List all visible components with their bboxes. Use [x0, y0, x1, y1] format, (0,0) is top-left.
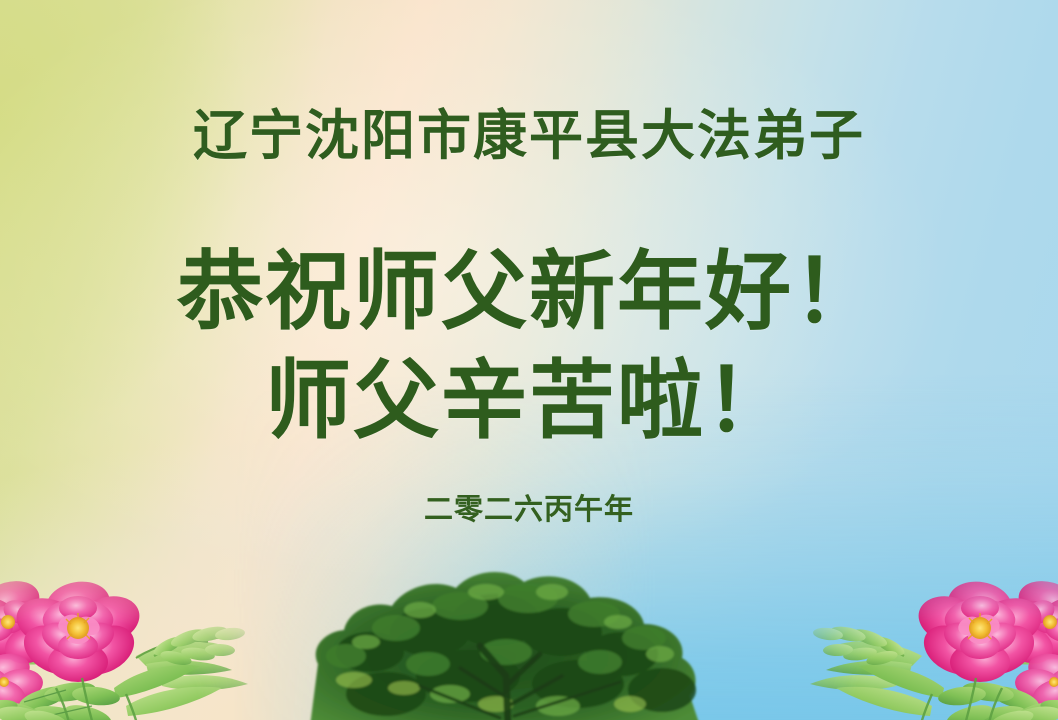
greeting-line-1: 恭祝师父新年好！ [0, 243, 1058, 341]
greeting-text-block: 辽宁沈阳市康平县大法弟子 恭祝师父新年好！ 师父辛苦啦！ 二零二六丙午年 [0, 0, 1058, 720]
date-line: 二零二六丙午年 [0, 492, 1058, 526]
organization-line: 辽宁沈阳市康平县大法弟子 [0, 104, 1058, 166]
greeting-card: 辽宁沈阳市康平县大法弟子 恭祝师父新年好！ 师父辛苦啦！ 二零二六丙午年 [0, 0, 1058, 720]
greeting-line-2: 师父辛苦啦！ [0, 352, 1058, 450]
